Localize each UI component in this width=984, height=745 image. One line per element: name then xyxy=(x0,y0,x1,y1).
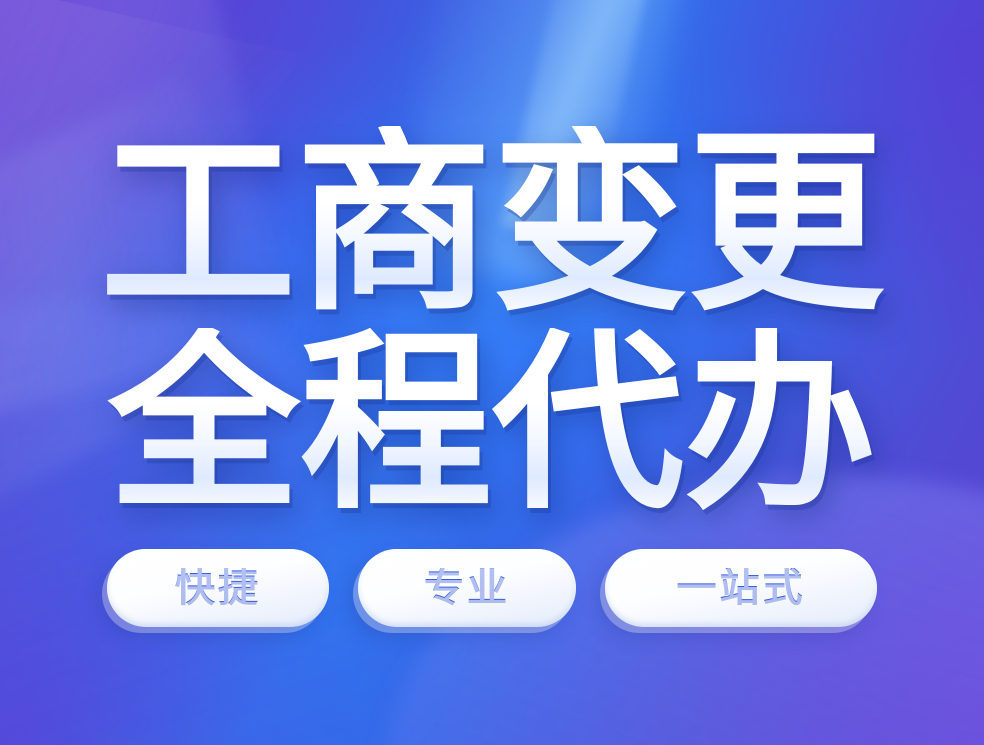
poster-content: 工商变更 全程代办 快捷 专业 一站式 xyxy=(0,0,984,745)
headline-line-1: 工商变更 xyxy=(0,126,984,322)
feature-badge-label: 专业 xyxy=(424,568,510,608)
feature-badge-row: 快捷 专业 一站式 xyxy=(0,549,984,627)
feature-badge-yizhanshi[interactable]: 一站式 xyxy=(605,549,877,627)
feature-badge-label: 快捷 xyxy=(175,568,261,608)
feature-badge-kuaijie[interactable]: 快捷 xyxy=(107,549,329,627)
feature-badge-zhuanye[interactable]: 专业 xyxy=(358,549,576,627)
headline-block: 工商变更 全程代办 xyxy=(0,126,984,520)
promo-poster: 工商变更 全程代办 快捷 专业 一站式 xyxy=(0,0,984,745)
feature-badge-label: 一站式 xyxy=(677,568,806,608)
headline-line-2: 全程代办 xyxy=(0,328,984,520)
